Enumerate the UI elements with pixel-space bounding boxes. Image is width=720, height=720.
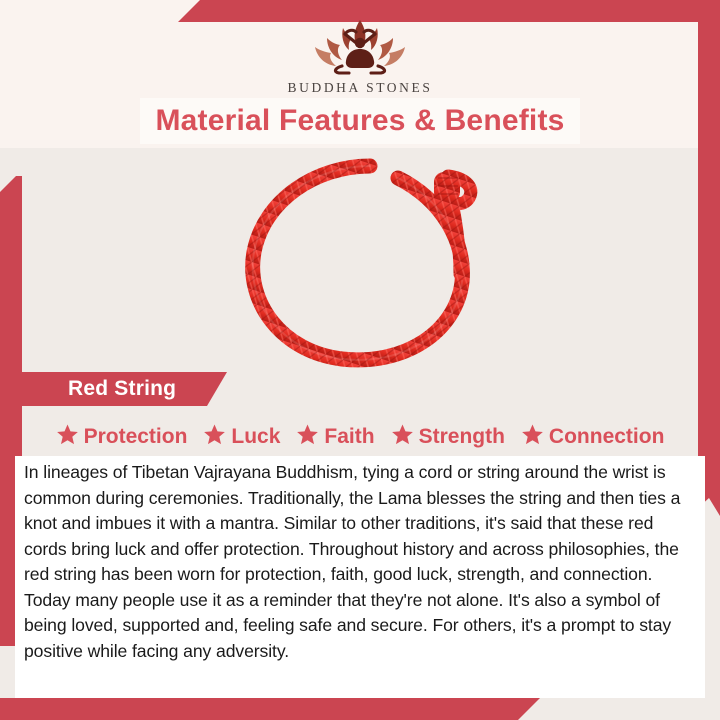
star-icon xyxy=(203,423,226,451)
star-icon xyxy=(391,423,414,451)
star-icon xyxy=(296,423,319,451)
red-braided-string-bracelet-icon xyxy=(220,156,500,376)
infographic-page: BUDDHA STONES Material Features & Benefi… xyxy=(0,0,720,720)
description-panel: In lineages of Tibetan Vajrayana Buddhis… xyxy=(15,456,705,698)
benefits-row: Protection Luck Faith S xyxy=(15,420,705,454)
description-text: In lineages of Tibetan Vajrayana Buddhis… xyxy=(24,460,689,664)
page-title: Material Features & Benefits xyxy=(155,104,564,138)
benefit-label: Luck xyxy=(231,425,280,449)
benefit-label: Faith xyxy=(324,425,374,449)
star-icon xyxy=(521,423,544,451)
benefit-item: Strength xyxy=(391,423,505,451)
benefit-label: Strength xyxy=(419,425,505,449)
title-banner: Material Features & Benefits xyxy=(140,98,580,144)
product-name-label: Red String xyxy=(68,377,176,401)
brand-logo: BUDDHA STONES xyxy=(270,16,450,96)
star-icon xyxy=(56,423,79,451)
benefit-item: Luck xyxy=(203,423,280,451)
benefit-label: Connection xyxy=(549,425,665,449)
product-name-ribbon: Red String xyxy=(15,372,227,406)
benefit-item: Faith xyxy=(296,423,374,451)
benefit-item: Connection xyxy=(521,423,665,451)
benefit-item: Protection xyxy=(56,423,188,451)
product-image-area xyxy=(0,150,720,372)
benefit-label: Protection xyxy=(84,425,188,449)
brand-name: BUDDHA STONES xyxy=(270,80,450,96)
lotus-meditation-icon xyxy=(270,16,450,78)
